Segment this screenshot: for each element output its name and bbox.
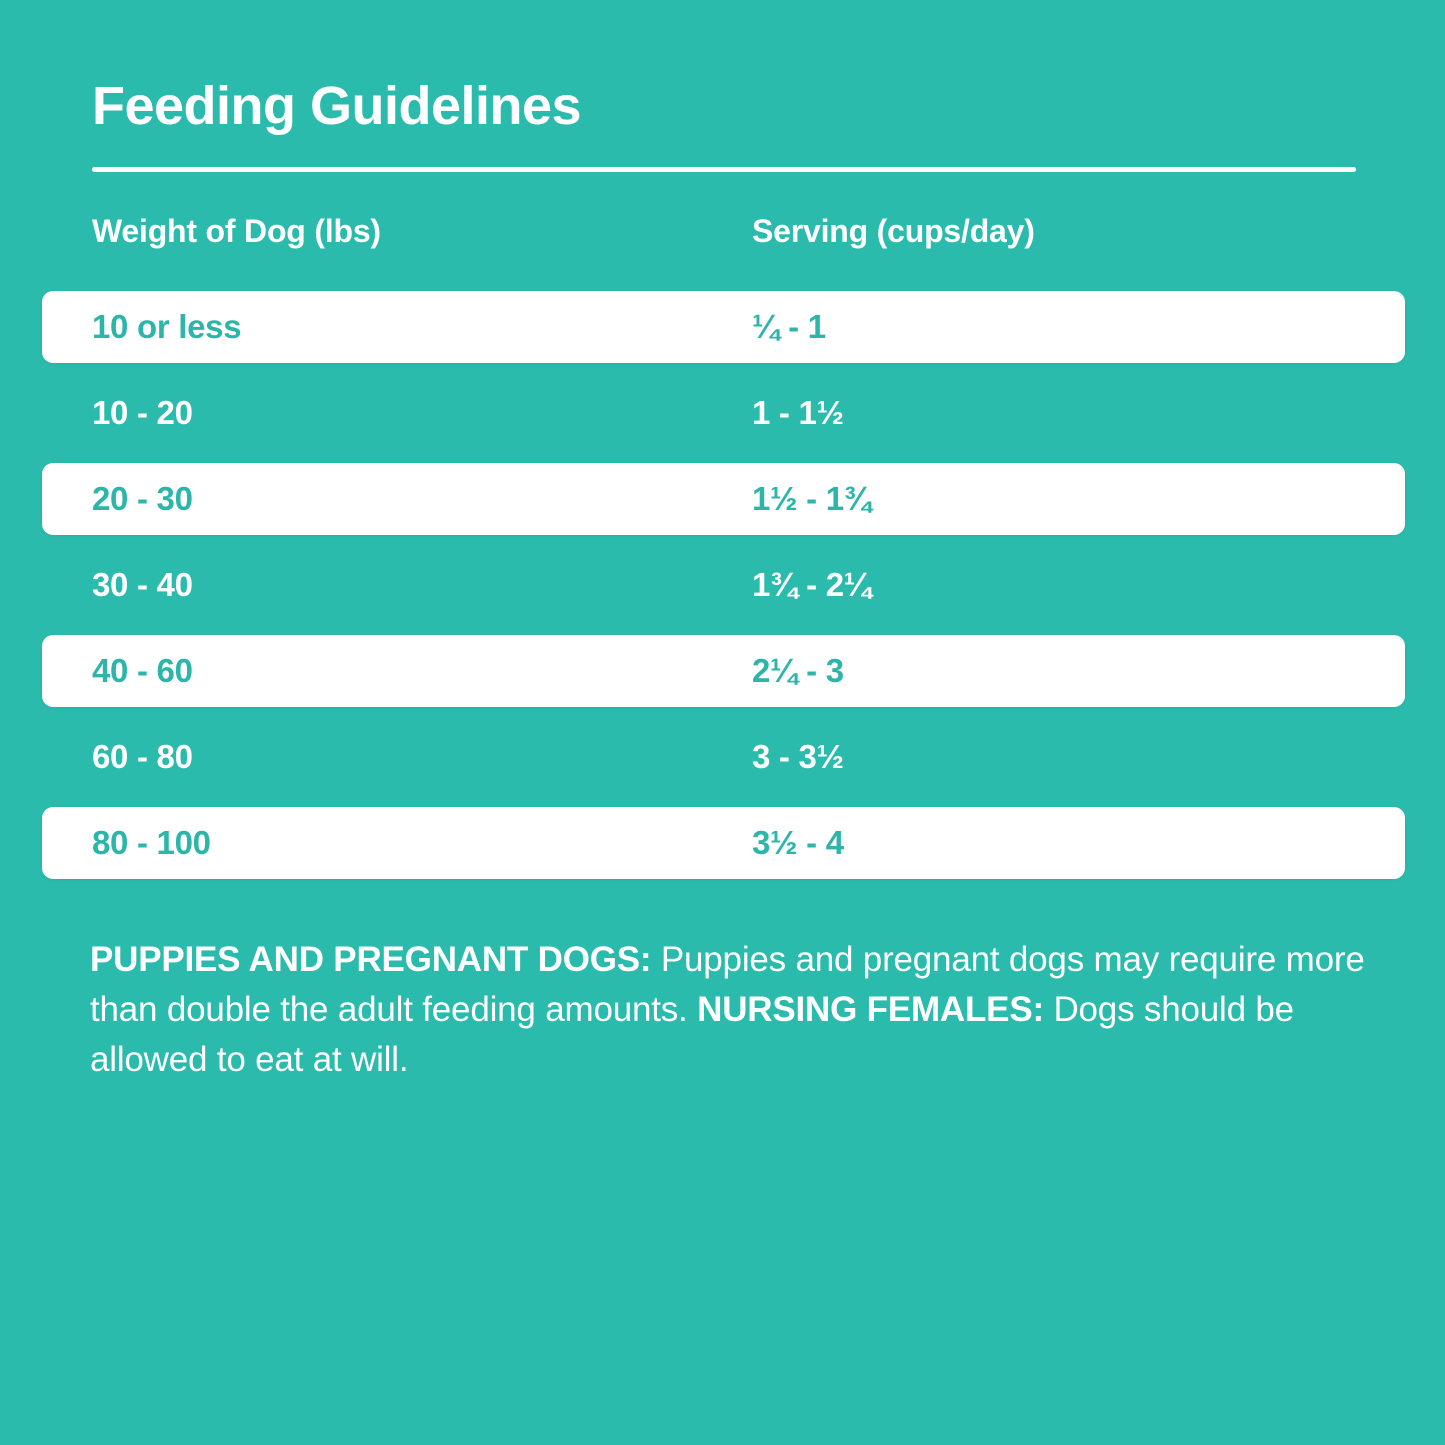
feeding-note: PUPPIES AND PREGNANT DOGS: Puppies and p…: [90, 935, 1365, 1085]
feeding-guidelines-panel: Feeding Guidelines Weight of Dog (lbs) S…: [0, 0, 1445, 1445]
table-row: 10 or less¼ - 1: [42, 291, 1405, 363]
page-title: Feeding Guidelines: [92, 78, 581, 135]
cell-serving: 2¼ - 3: [752, 652, 844, 690]
table-row: 30 - 401¾ - 2¼: [0, 549, 1445, 621]
cell-weight: 10 or less: [92, 308, 241, 346]
cell-serving: 3½ - 4: [752, 824, 844, 862]
note-label-nursing: NURSING FEMALES:: [697, 990, 1044, 1029]
cell-serving: ¼ - 1: [752, 308, 826, 346]
cell-weight: 80 - 100: [92, 824, 211, 862]
table-row: 80 - 1003½ - 4: [42, 807, 1405, 879]
cell-serving: 1½ - 1¾: [752, 480, 871, 518]
cell-weight: 30 - 40: [92, 566, 193, 604]
table-row: 40 - 602¼ - 3: [42, 635, 1405, 707]
column-header-weight: Weight of Dog (lbs): [92, 213, 381, 250]
note-label-puppies: PUPPIES AND PREGNANT DOGS:: [90, 940, 651, 979]
feeding-table-body: 10 or less¼ - 110 - 201 - 1½20 - 301½ - …: [0, 291, 1445, 893]
title-divider: [92, 167, 1356, 172]
cell-weight: 40 - 60: [92, 652, 193, 690]
cell-serving: 1 - 1½: [752, 394, 844, 432]
cell-serving: 1¾ - 2¼: [752, 566, 871, 604]
table-column-headers: Weight of Dog (lbs) Serving (cups/day): [0, 213, 1445, 265]
cell-weight: 20 - 30: [92, 480, 193, 518]
cell-serving: 3 - 3½: [752, 738, 844, 776]
table-row: 60 - 803 - 3½: [0, 721, 1445, 793]
cell-weight: 10 - 20: [92, 394, 193, 432]
column-header-serving: Serving (cups/day): [752, 213, 1035, 250]
table-row: 10 - 201 - 1½: [0, 377, 1445, 449]
table-row: 20 - 301½ - 1¾: [42, 463, 1405, 535]
cell-weight: 60 - 80: [92, 738, 193, 776]
